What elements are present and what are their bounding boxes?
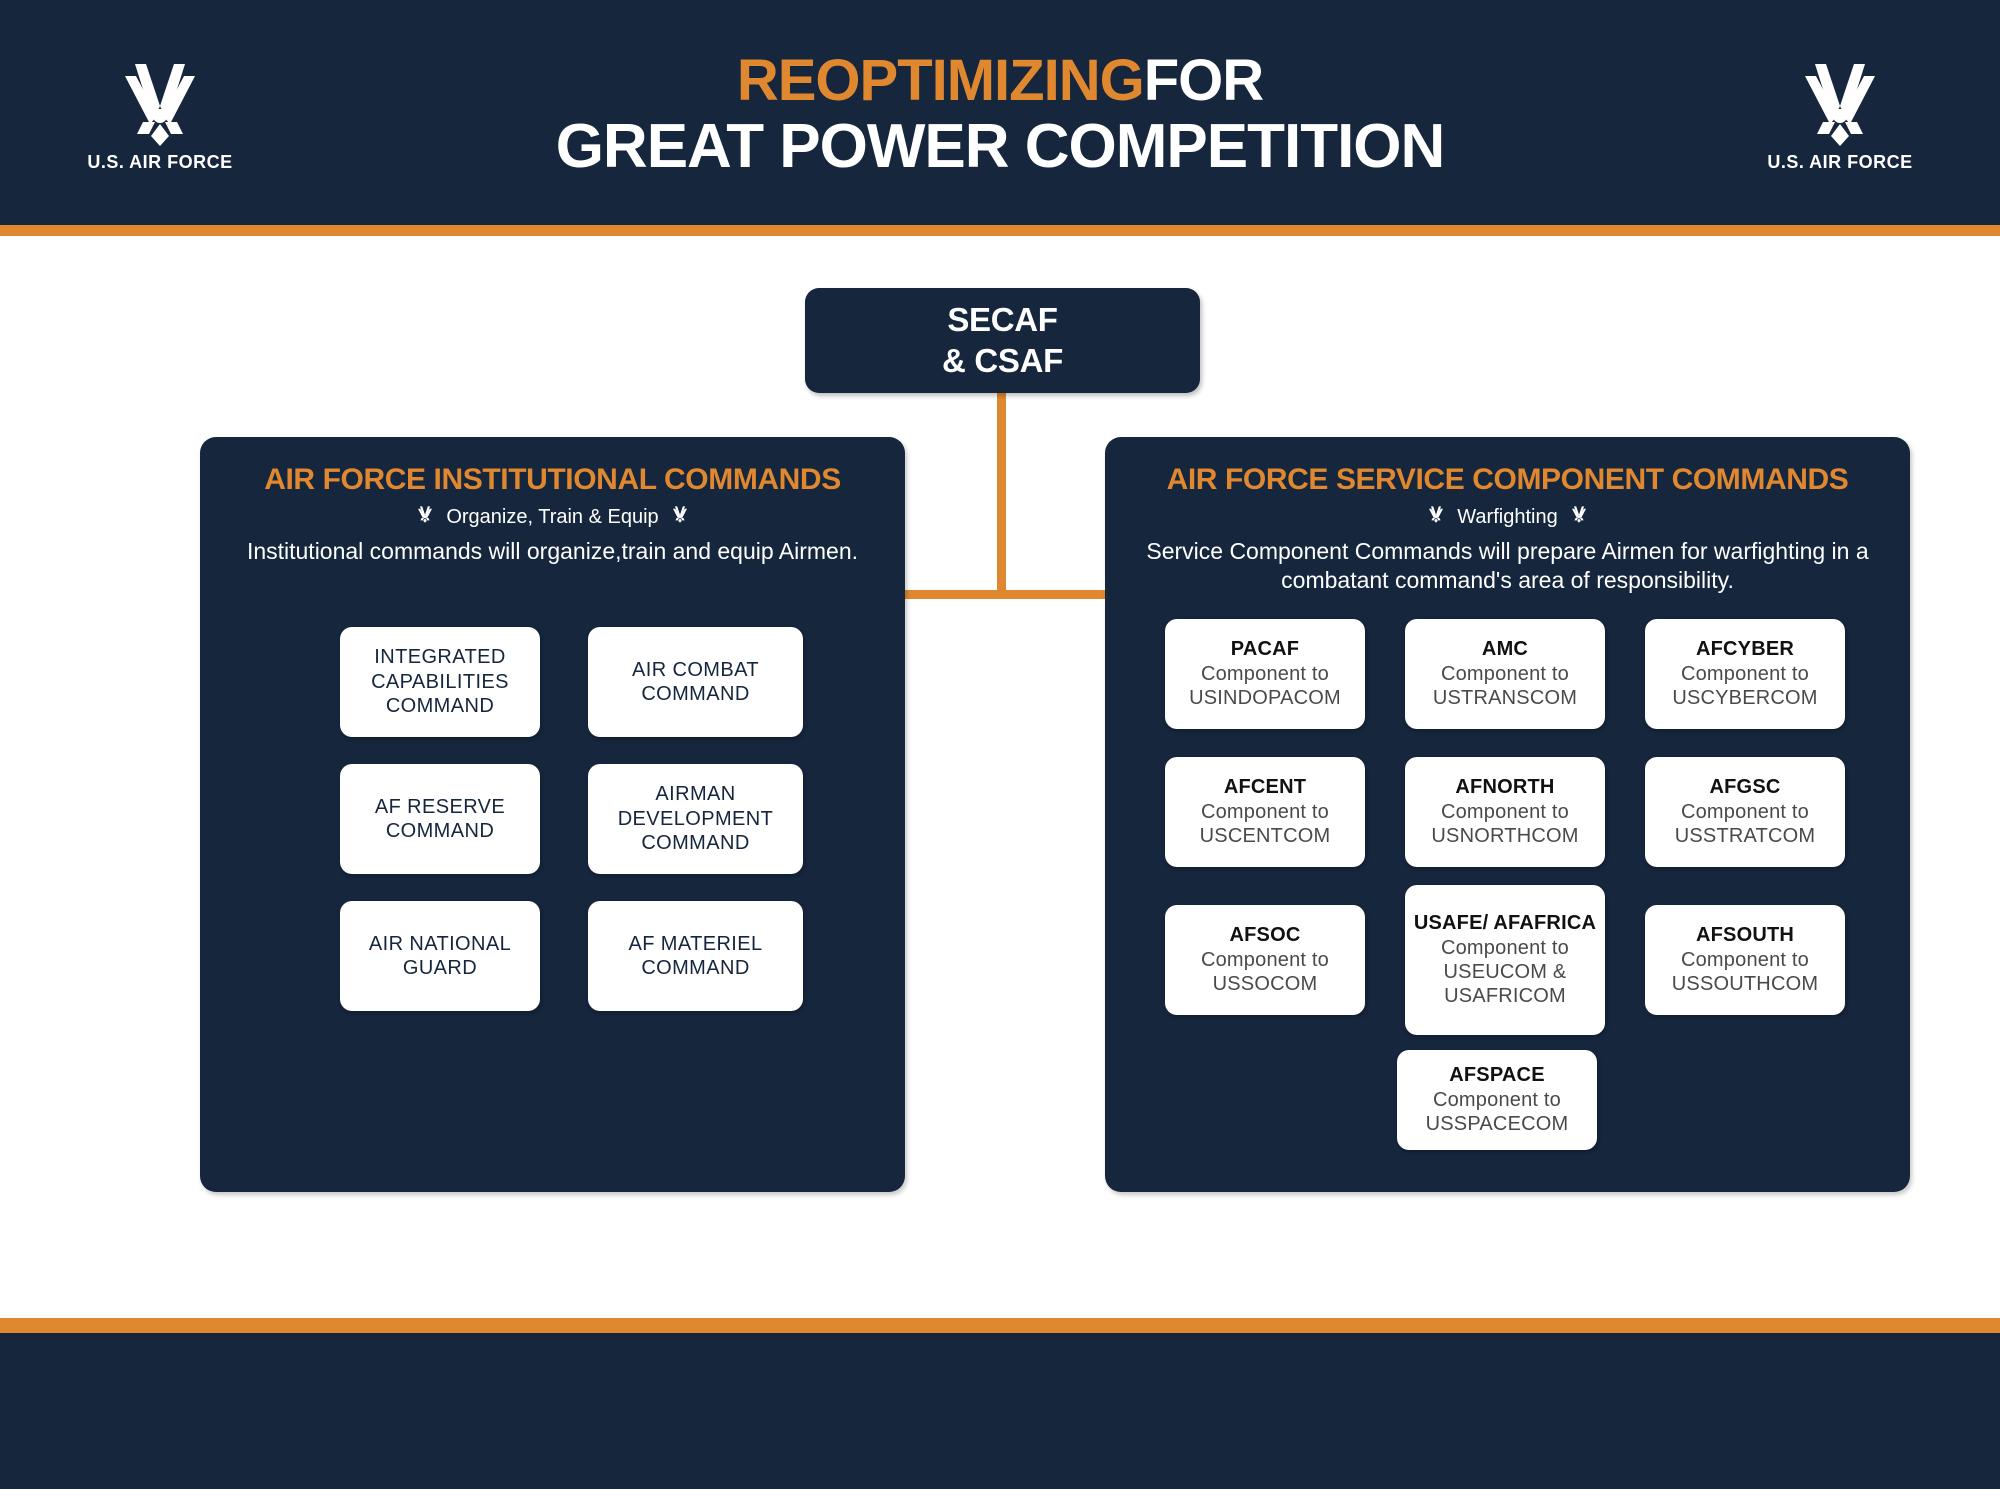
title-block: REOPTIMIZINGFOR GREAT POWER COMPETITION	[400, 52, 1600, 178]
component-card-afspace[interactable]: AFSPACE Component to USSPACECOM	[1397, 1050, 1597, 1150]
air-force-wings-icon	[1755, 58, 1925, 146]
command-card-air-national-guard[interactable]: AIR NATIONAL GUARD	[340, 901, 540, 1011]
component-card-detail: Component to USTRANSCOM	[1413, 662, 1597, 710]
component-card-afcyber[interactable]: AFCYBER Component to USCYBERCOM	[1645, 619, 1845, 729]
command-card-af-materiel[interactable]: AF MATERIEL COMMAND	[588, 901, 803, 1011]
infographic-canvas: U.S. AIR FORCE REOPTIMIZINGFOR GREAT POW…	[0, 0, 2000, 1489]
air-force-logo-right-label: U.S. AIR FORCE	[1755, 152, 1925, 173]
component-card-afsouth[interactable]: AFSOUTH Component to USSOUTHCOM	[1645, 905, 1845, 1015]
secaf-line-1: SECAF	[942, 300, 1063, 340]
footer-bar	[0, 1333, 2000, 1489]
component-card-afnorth[interactable]: AFNORTH Component to USNORTHCOM	[1405, 757, 1605, 867]
air-force-wings-icon	[75, 58, 245, 146]
air-force-logo-left-label: U.S. AIR FORCE	[75, 152, 245, 173]
component-card-detail: Component to USSOCOM	[1173, 948, 1357, 996]
header-accent-rule	[0, 225, 2000, 236]
command-card-label: INTEGRATED CAPABILITIES COMMAND	[348, 645, 532, 718]
component-card-detail: Component to USSPACECOM	[1405, 1088, 1589, 1136]
panel-left-subtitle: Organize, Train & Equip	[446, 506, 658, 529]
panel-left-subtitle-row: Organize, Train & Equip	[200, 505, 905, 529]
component-card-name: AFSPACE	[1449, 1064, 1544, 1088]
component-card-detail: Component to USCENTCOM	[1173, 800, 1357, 848]
component-card-detail: Component to USSOUTHCOM	[1653, 948, 1837, 996]
component-card-afgsc[interactable]: AFGSC Component to USSTRATCOM	[1645, 757, 1845, 867]
command-card-air-combat[interactable]: AIR COMBAT COMMAND	[588, 627, 803, 737]
command-card-integrated-capabilities[interactable]: INTEGRATED CAPABILITIES COMMAND	[340, 627, 540, 737]
component-card-detail: Component to USNORTHCOM	[1413, 800, 1597, 848]
panel-left-description: Institutional commands will organize,tra…	[200, 537, 905, 566]
command-card-airman-development[interactable]: AIRMAN DEVELOPMENT COMMAND	[588, 764, 803, 874]
title-line-2: GREAT POWER COMPETITION	[400, 116, 1600, 178]
command-card-label: AF RESERVE COMMAND	[348, 795, 532, 844]
air-force-logo-right: U.S. AIR FORCE	[1755, 58, 1925, 173]
title-rest-word: FOR	[1144, 48, 1263, 113]
component-card-afsoc[interactable]: AFSOC Component to USSOCOM	[1165, 905, 1365, 1015]
title-line-1: REOPTIMIZINGFOR	[400, 52, 1600, 110]
panel-institutional-commands: AIR FORCE INSTITUTIONAL COMMANDS Organiz…	[200, 437, 905, 1192]
component-card-pacaf[interactable]: PACAF Component to USINDOPACOM	[1165, 619, 1365, 729]
air-force-logo-left: U.S. AIR FORCE	[75, 58, 245, 173]
secaf-csaf-node[interactable]: SECAF & CSAF	[805, 288, 1200, 393]
component-card-name: AFCYBER	[1696, 638, 1794, 662]
component-card-name: AFSOC	[1230, 924, 1301, 948]
component-card-name: PACAF	[1231, 638, 1299, 662]
footer-accent-rule	[0, 1318, 2000, 1333]
command-card-af-reserve[interactable]: AF RESERVE COMMAND	[340, 764, 540, 874]
connector-secaf-stem	[997, 393, 1006, 596]
panel-right-subtitle: Warfighting	[1457, 506, 1557, 529]
component-card-name: AFGSC	[1710, 776, 1781, 800]
component-card-name: AFCENT	[1224, 776, 1306, 800]
component-card-afcent[interactable]: AFCENT Component to USCENTCOM	[1165, 757, 1365, 867]
component-card-detail: Component to USSTRATCOM	[1653, 800, 1837, 848]
mini-wings-icon	[1425, 505, 1447, 529]
secaf-line-2: & CSAF	[942, 341, 1063, 381]
title-accent-word: REOPTIMIZING	[737, 48, 1144, 113]
header-bar: U.S. AIR FORCE REOPTIMIZINGFOR GREAT POW…	[0, 0, 2000, 225]
mini-wings-icon	[1568, 505, 1590, 529]
mini-wings-icon	[414, 505, 436, 529]
panel-right-description: Service Component Commands will prepare …	[1105, 537, 1910, 596]
panel-left-title: AIR FORCE INSTITUTIONAL COMMANDS	[200, 463, 905, 497]
panel-right-subtitle-row: Warfighting	[1105, 505, 1910, 529]
panel-service-component-commands: AIR FORCE SERVICE COMPONENT COMMANDS War…	[1105, 437, 1910, 1192]
mini-wings-icon	[669, 505, 691, 529]
component-card-amc[interactable]: AMC Component to USTRANSCOM	[1405, 619, 1605, 729]
component-card-usafe-afafrica[interactable]: USAFE/ AFAFRICA Component to USEUCOM & U…	[1405, 885, 1605, 1035]
component-card-name: AFSOUTH	[1696, 924, 1794, 948]
command-card-label: AIR COMBAT COMMAND	[596, 658, 795, 707]
command-card-label: AIR NATIONAL GUARD	[348, 932, 532, 981]
component-card-detail: Component to USCYBERCOM	[1653, 662, 1837, 710]
component-card-name: USAFE/ AFAFRICA	[1414, 912, 1596, 936]
component-card-detail: Component to USINDOPACOM	[1173, 662, 1357, 710]
component-card-name: AFNORTH	[1455, 776, 1554, 800]
panel-right-title: AIR FORCE SERVICE COMPONENT COMMANDS	[1105, 463, 1910, 497]
command-card-label: AIRMAN DEVELOPMENT COMMAND	[596, 782, 795, 855]
component-card-detail: Component to USEUCOM & USAFRICOM	[1413, 936, 1597, 1008]
secaf-csaf-label: SECAF & CSAF	[942, 300, 1063, 381]
command-card-label: AF MATERIEL COMMAND	[596, 932, 795, 981]
component-card-name: AMC	[1482, 638, 1528, 662]
